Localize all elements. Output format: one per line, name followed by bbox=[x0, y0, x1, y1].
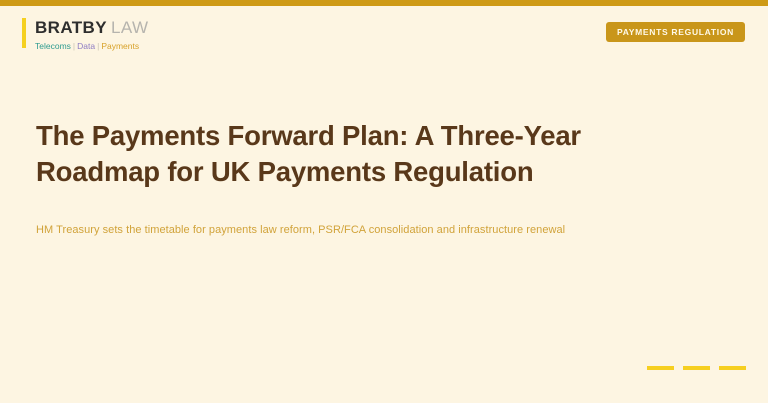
dash-icon bbox=[719, 366, 746, 370]
decorative-dashes bbox=[647, 366, 746, 370]
logo-text-column: BRATBYLAW Telecoms|Data|Payments bbox=[35, 18, 148, 52]
logo-suffix: LAW bbox=[111, 18, 148, 37]
slide-header: BRATBYLAW Telecoms|Data|Payments PAYMENT… bbox=[0, 6, 768, 58]
tagline-payments: Payments bbox=[101, 41, 139, 51]
tagline-data: Data bbox=[77, 41, 95, 51]
tagline-separator-1: | bbox=[73, 41, 75, 51]
slide-content: The Payments Forward Plan: A Three-Year … bbox=[36, 118, 716, 238]
dash-icon bbox=[683, 366, 710, 370]
tagline-telecoms: Telecoms bbox=[35, 41, 71, 51]
logo-tagline: Telecoms|Data|Payments bbox=[35, 41, 148, 52]
dash-icon bbox=[647, 366, 674, 370]
logo-accent-bar-icon bbox=[22, 18, 26, 48]
logo-name: BRATBY bbox=[35, 18, 107, 37]
page-subtitle: HM Treasury sets the timetable for payme… bbox=[36, 222, 716, 238]
logo-wordmark: BRATBYLAW bbox=[35, 18, 148, 37]
page-title: The Payments Forward Plan: A Three-Year … bbox=[36, 118, 696, 190]
slide-canvas: BRATBYLAW Telecoms|Data|Payments PAYMENT… bbox=[0, 0, 768, 403]
tagline-separator-2: | bbox=[97, 41, 99, 51]
category-badge[interactable]: PAYMENTS REGULATION bbox=[606, 22, 745, 42]
brand-logo[interactable]: BRATBYLAW Telecoms|Data|Payments bbox=[22, 18, 148, 52]
